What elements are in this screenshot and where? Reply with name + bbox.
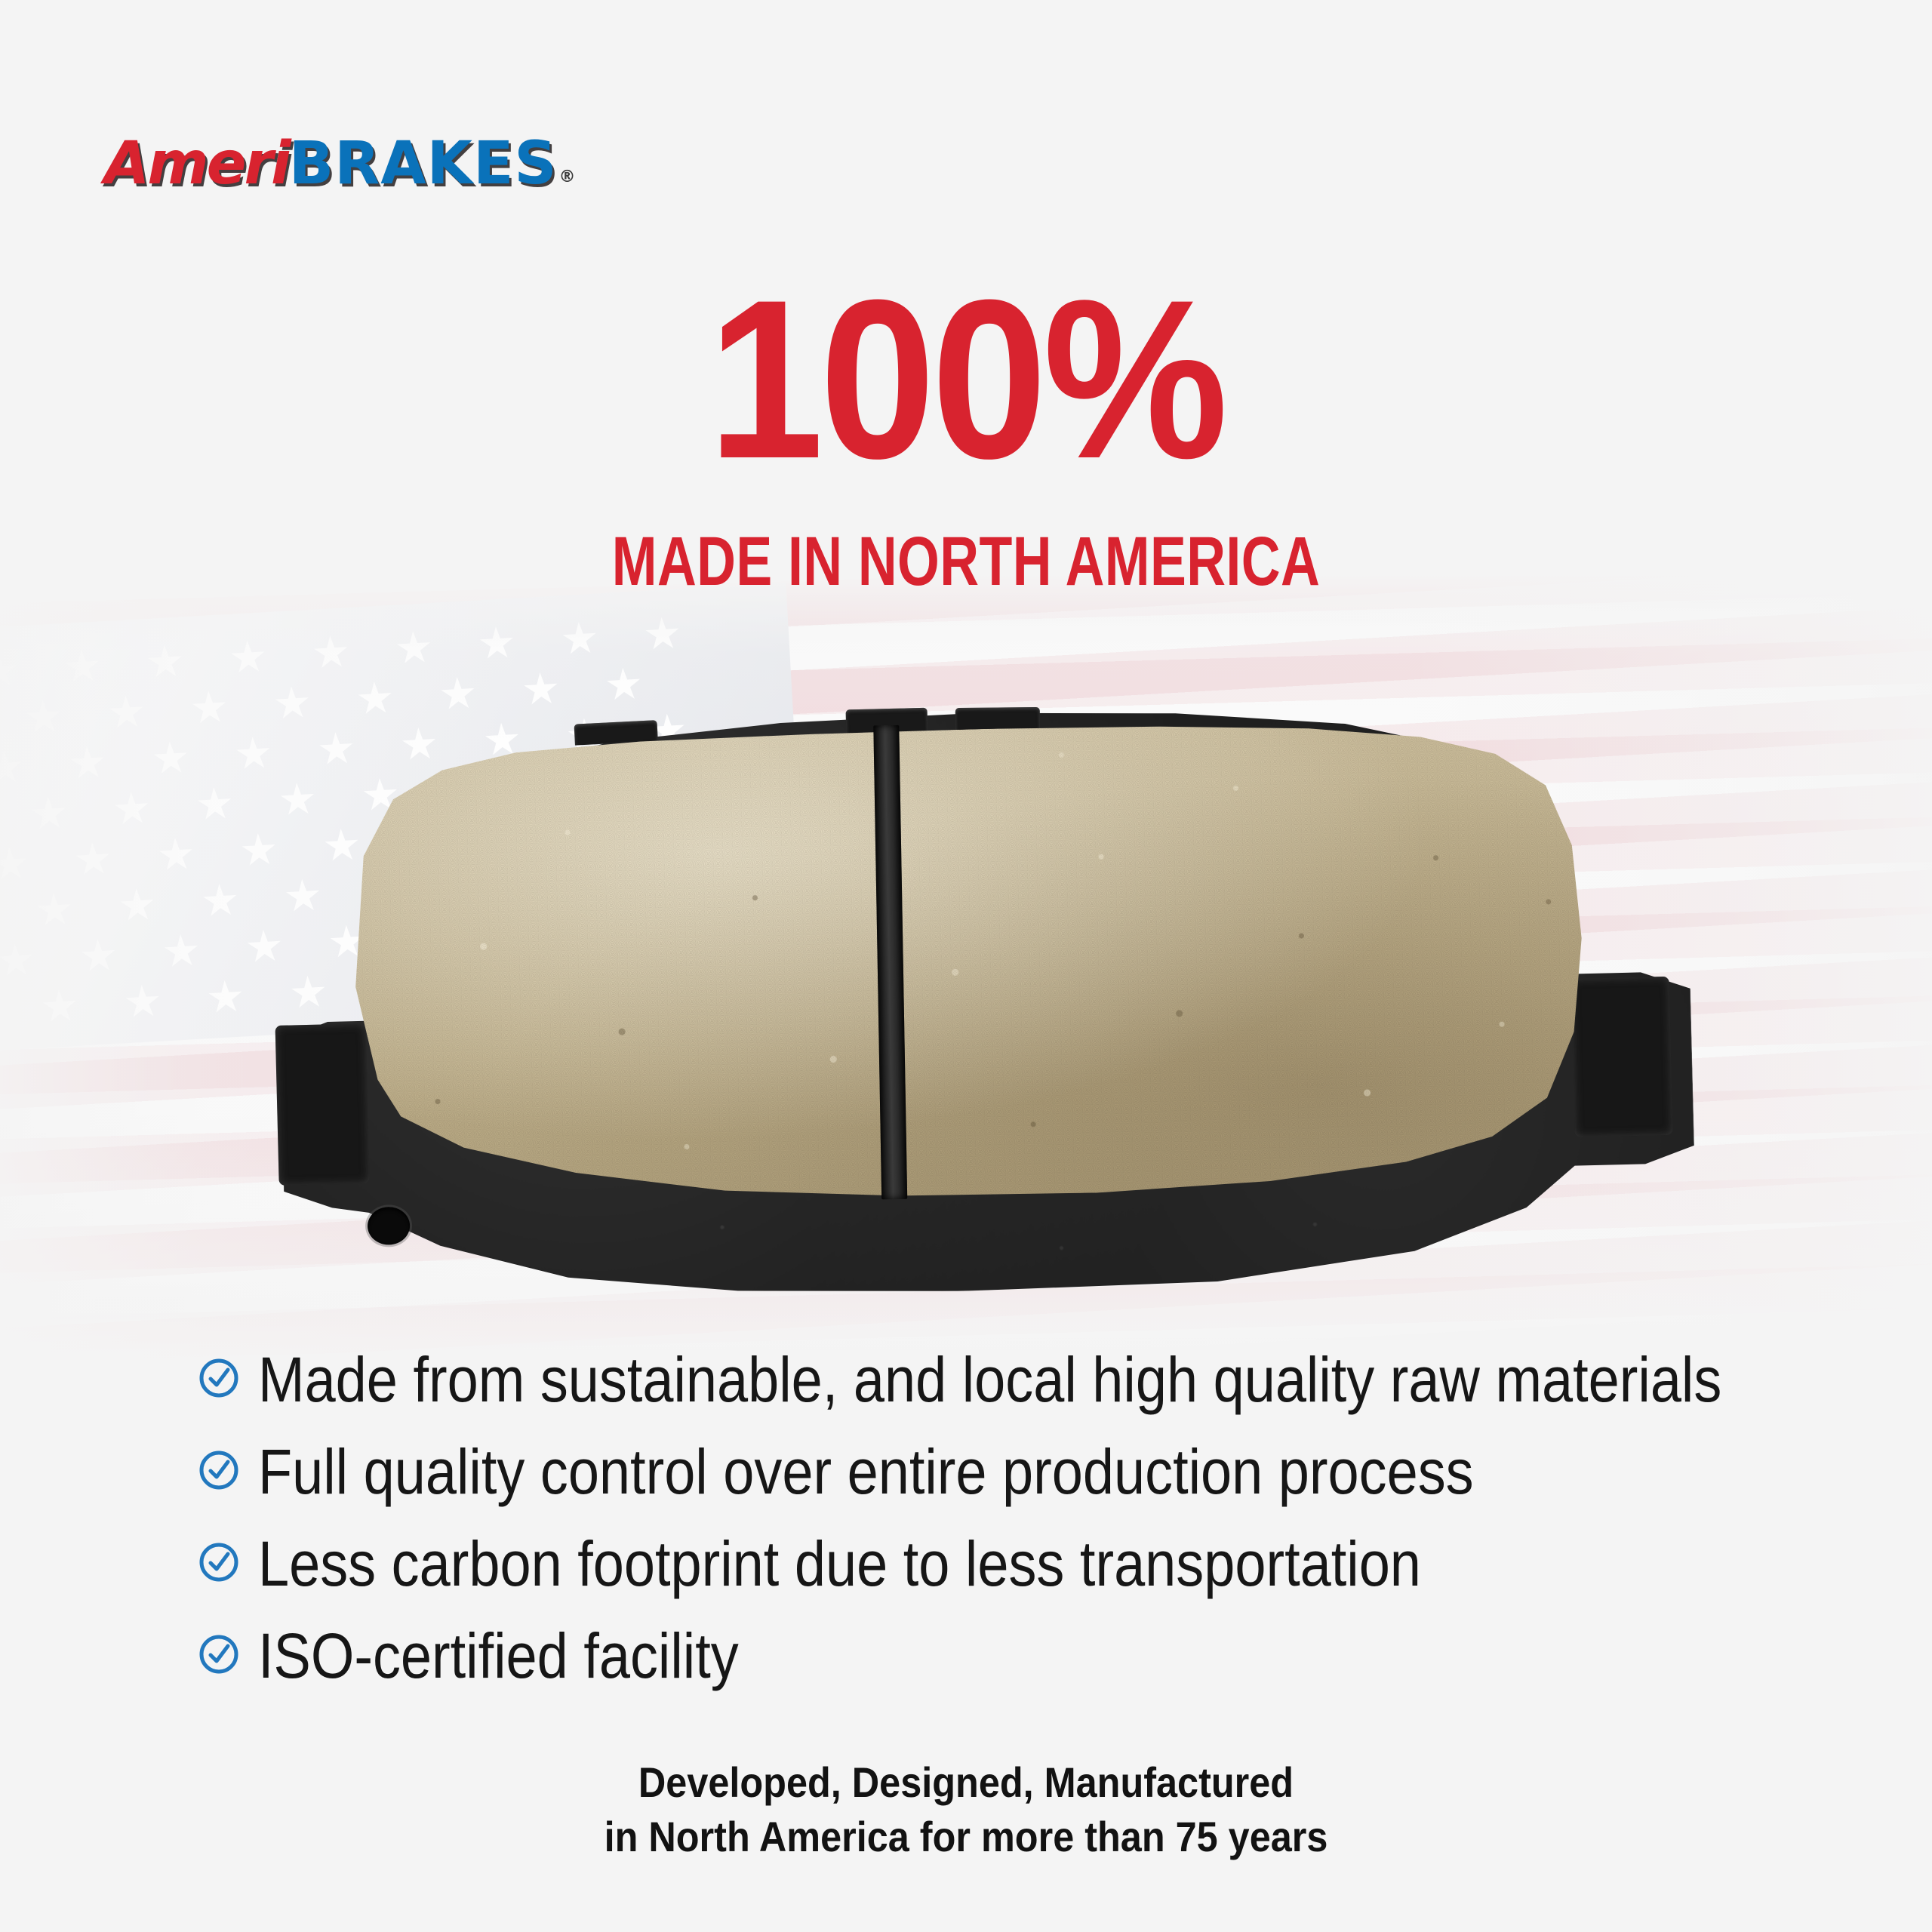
feature-label: ISO-certified facility	[258, 1621, 739, 1690]
brand-logo[interactable]: AmeriBRAKES®	[104, 134, 573, 193]
brake-pad-ear-left	[275, 1023, 370, 1186]
list-item: ISO-certified facility	[198, 1621, 1783, 1694]
check-circle-icon	[198, 1357, 240, 1399]
footer-line-1: Developed, Designed, Manufactured	[97, 1755, 1835, 1810]
check-circle-icon	[198, 1633, 240, 1675]
brake-pad-mounting-hole	[367, 1207, 410, 1245]
footer-line-2: in North America for more than 75 years	[97, 1810, 1835, 1864]
hero-subheadline: MADE IN NORTH AMERICA	[213, 527, 1720, 596]
list-item: Made from sustainable, and local high qu…	[198, 1345, 1783, 1417]
check-circle-icon	[198, 1541, 240, 1583]
footer-tagline: Developed, Designed, Manufactured in Nor…	[0, 1755, 1932, 1864]
registered-trademark-icon: ®	[559, 168, 574, 186]
feature-label: Made from sustainable, and local high qu…	[258, 1345, 1721, 1414]
list-item: Full quality control over entire product…	[198, 1437, 1783, 1509]
friction-grain-texture	[342, 715, 1592, 1211]
feature-label: Full quality control over entire product…	[258, 1437, 1474, 1506]
check-circle-icon	[198, 1449, 240, 1491]
brake-pad-friction-material	[342, 715, 1592, 1211]
feature-label: Less carbon footprint due to less transp…	[258, 1529, 1421, 1598]
logo-text-ameri: Ameri	[104, 130, 289, 198]
logo-text-brakes: BRAKES	[289, 130, 558, 198]
feature-list: Made from sustainable, and local high qu…	[198, 1345, 1783, 1713]
brake-pad-ear-right	[1571, 977, 1673, 1137]
brake-pad-image	[279, 709, 1690, 1291]
hero-headline: 100%	[77, 266, 1854, 492]
list-item: Less carbon footprint due to less transp…	[198, 1529, 1783, 1601]
promo-banner: AmeriBRAKES® 100% MADE IN NORTH AMERICA	[0, 0, 1932, 1932]
brake-pad-tab-right	[955, 707, 1040, 732]
